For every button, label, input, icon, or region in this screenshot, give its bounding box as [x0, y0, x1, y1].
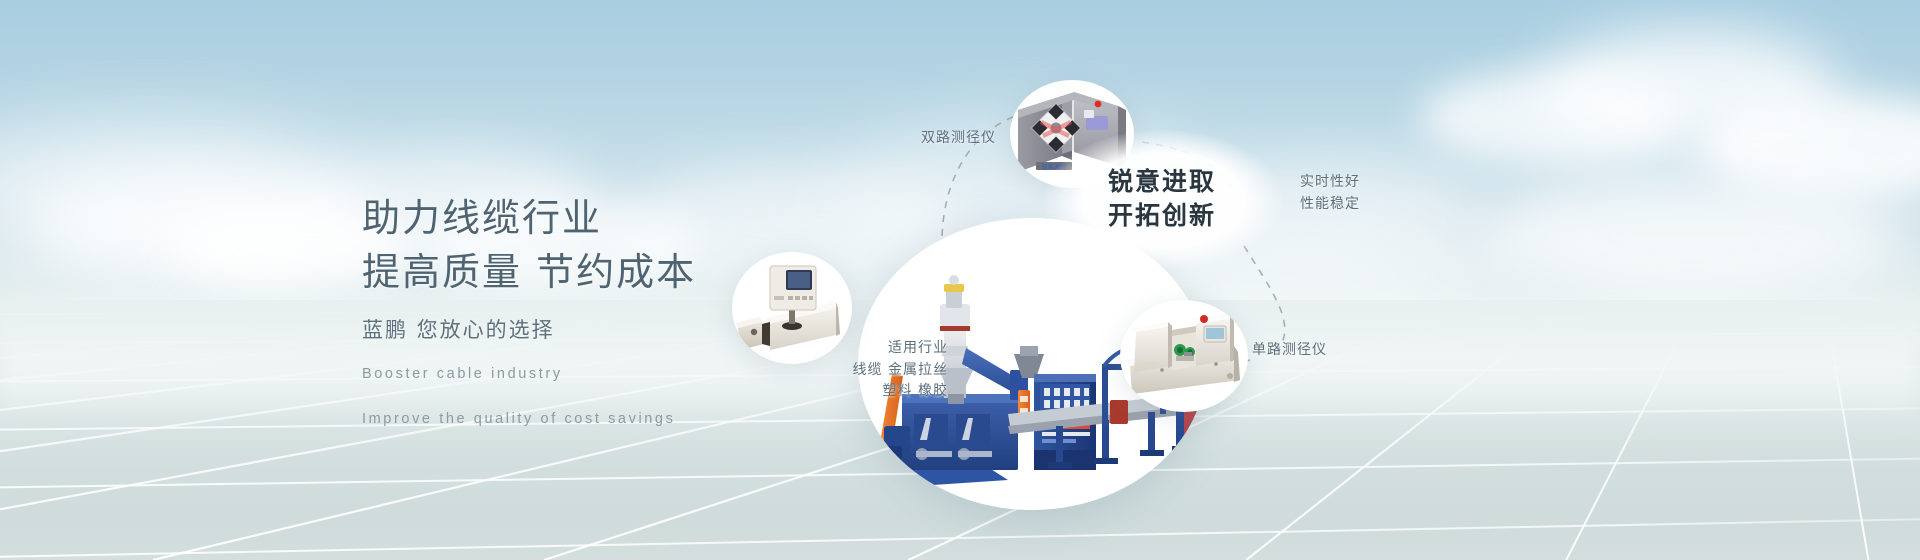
label-industries-line-1: 线缆 金属拉丝	[748, 360, 948, 382]
cloud-decoration	[30, 170, 360, 280]
product-composition: 蓝鹏测控	[880, 0, 1920, 560]
label-features: 实时性好 性能稳定	[1300, 172, 1360, 215]
label-features-line-2: 性能稳定	[1300, 194, 1360, 216]
label-industries-line-2: 塑料 橡胶	[748, 381, 948, 403]
label-industries-title: 适用行业	[748, 338, 948, 360]
single-gauge-illustration	[1120, 300, 1248, 412]
label-industries: 适用行业 线缆 金属拉丝 塑料 橡胶	[748, 338, 948, 403]
slogan-line-2: 开拓创新	[1072, 199, 1252, 233]
label-features-line-1: 实时性好	[1300, 172, 1360, 194]
slogan: 锐意进取 开拓创新	[1072, 165, 1252, 232]
label-single-gauge: 单路测径仪	[1252, 340, 1327, 362]
bubble-single-gauge	[1120, 300, 1248, 412]
slogan-line-1: 锐意进取	[1072, 165, 1252, 199]
cloud-decoration	[0, 120, 360, 250]
label-dual-gauge: 双路测径仪	[796, 128, 996, 150]
hero-banner: 助力线缆行业 提高质量 节约成本 蓝鹏 您放心的选择 Booster cable…	[0, 0, 1920, 560]
